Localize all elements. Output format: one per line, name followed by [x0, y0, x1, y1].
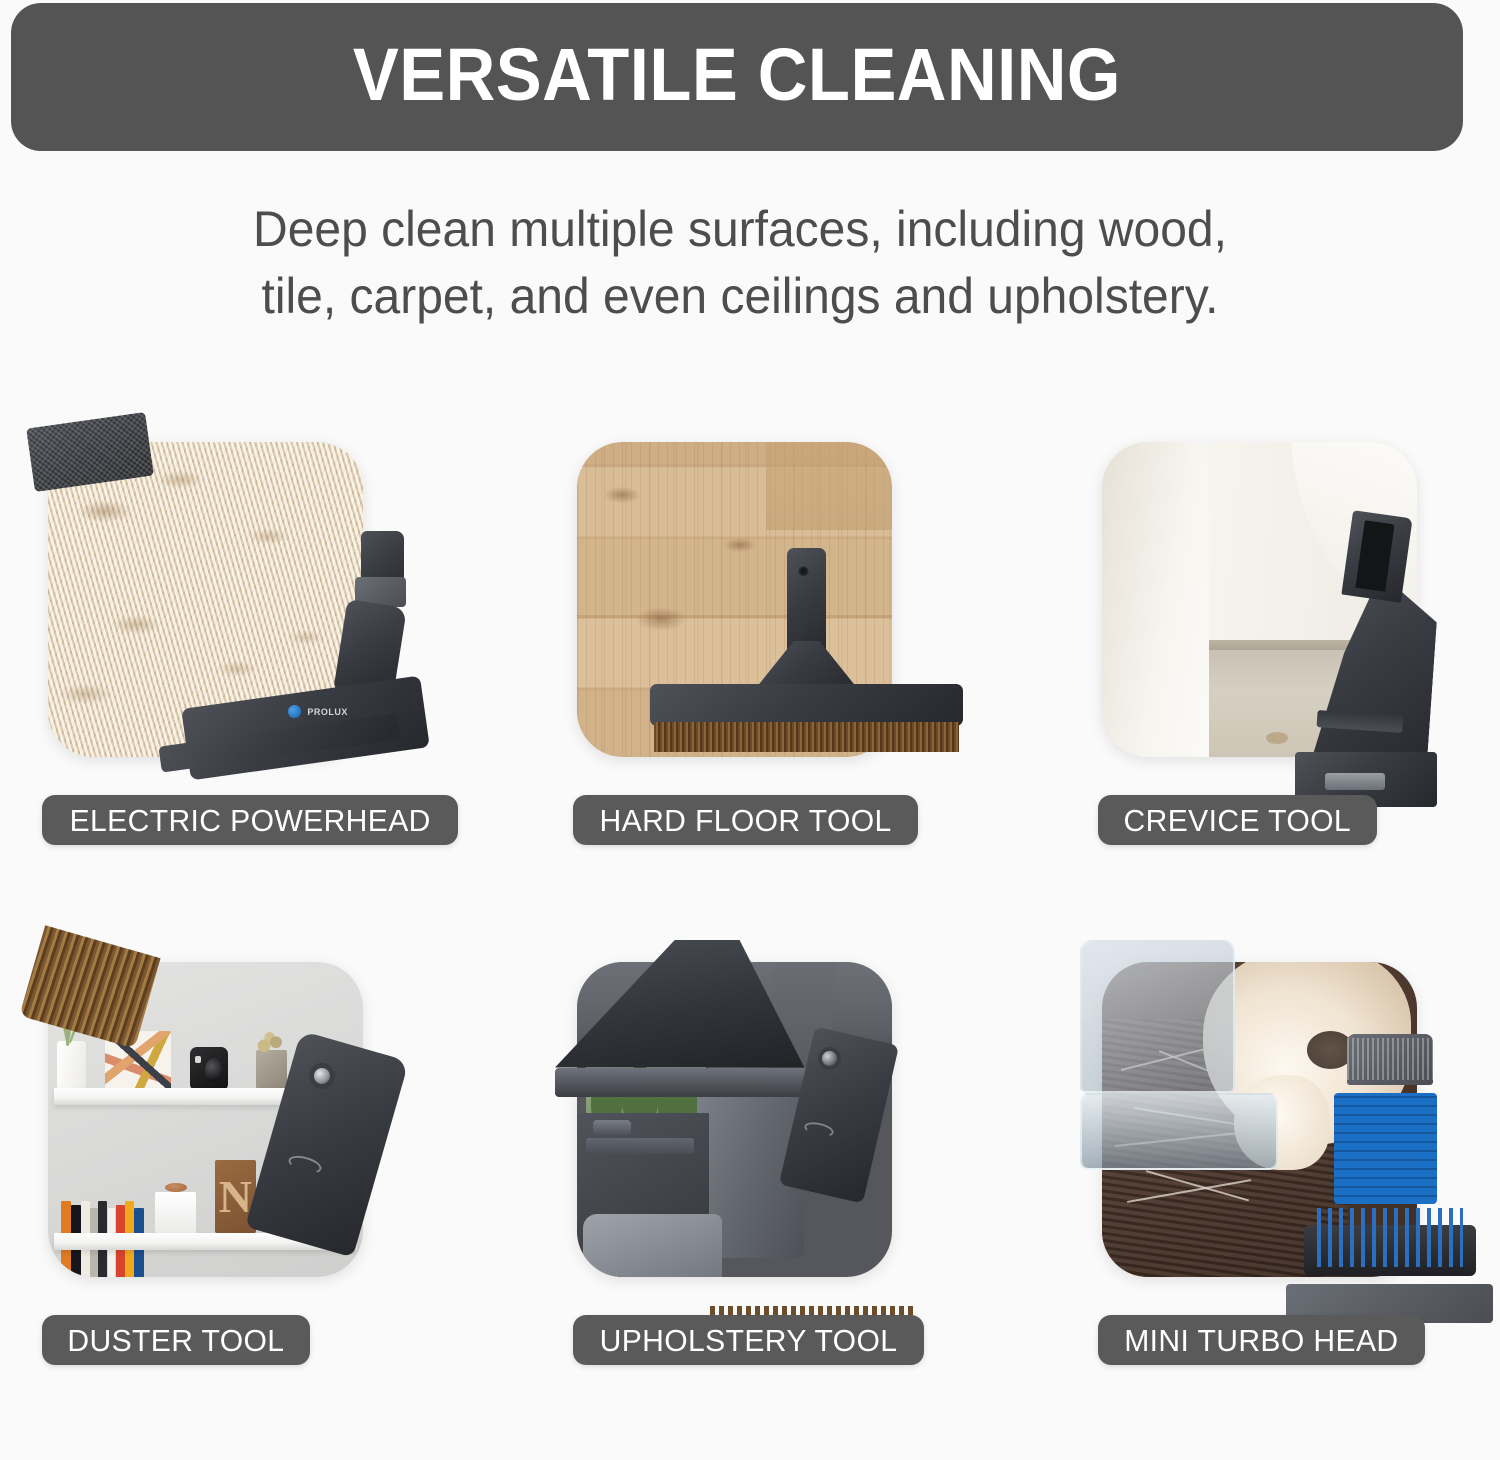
tool-label-upholstery-tool: UPHOLSTERY TOOL: [573, 1315, 924, 1365]
tool-label-duster-tool: DUSTER TOOL: [42, 1315, 310, 1365]
tool-card-mini-turbo-head[interactable]: MINI TURBO HEAD: [1080, 940, 1500, 1365]
tool-label-text: ELECTRIC POWERHEAD: [70, 805, 431, 836]
tool-label-crevice-tool: CREVICE TOOL: [1098, 795, 1377, 845]
tool-card-electric-powerhead[interactable]: PROLUX ELECTRIC POWERHEAD: [30, 420, 460, 845]
tool-label-hard-floor-tool: HARD FLOOR TOOL: [573, 795, 918, 845]
tool-card-duster-tool[interactable]: N DUSTER TOOL: [30, 940, 460, 1365]
tool-label-text: MINI TURBO HEAD: [1124, 1325, 1398, 1356]
tool-label-mini-turbo-head: MINI TURBO HEAD: [1098, 1315, 1425, 1365]
tool-label-text: DUSTER TOOL: [67, 1325, 284, 1356]
tool-card-crevice-tool[interactable]: CREVICE TOOL: [1080, 420, 1500, 845]
tool-grid: PROLUX ELECTRIC POWERHEAD: [0, 420, 1500, 1460]
tool-label-text: HARD FLOOR TOOL: [600, 805, 892, 836]
upholstery-tool-illustration: [555, 940, 985, 1365]
hard-floor-tool-illustration: [555, 420, 985, 845]
tool-grid-row-1: PROLUX ELECTRIC POWERHEAD: [0, 420, 1500, 845]
duster-tool-illustration: [30, 940, 460, 1365]
electric-powerhead-illustration: PROLUX: [30, 420, 460, 845]
prolux-logo-dot: [288, 705, 301, 718]
header-banner: VERSATILE CLEANING: [11, 3, 1463, 151]
tool-label-electric-powerhead: ELECTRIC POWERHEAD: [42, 795, 458, 845]
crevice-tool-illustration: [1080, 420, 1500, 845]
subtitle-line-1: Deep clean multiple surfaces, including …: [30, 196, 1451, 263]
tool-card-hard-floor-tool[interactable]: HARD FLOOR TOOL: [555, 420, 985, 845]
mini-turbo-head-illustration: [1080, 940, 1500, 1365]
page-title: VERSATILE CLEANING: [353, 38, 1121, 116]
tool-label-text: CREVICE TOOL: [1124, 805, 1351, 836]
subtitle-line-2: tile, carpet, and even ceilings and upho…: [30, 263, 1451, 330]
tool-label-text: UPHOLSTERY TOOL: [600, 1325, 898, 1356]
subtitle-text: Deep clean multiple surfaces, including …: [30, 196, 1451, 330]
tool-grid-row-2: N DUSTER TOOL: [0, 940, 1500, 1365]
tool-card-upholstery-tool[interactable]: UPHOLSTERY TOOL: [555, 940, 985, 1365]
prolux-logo-text: PROLUX: [307, 707, 348, 717]
